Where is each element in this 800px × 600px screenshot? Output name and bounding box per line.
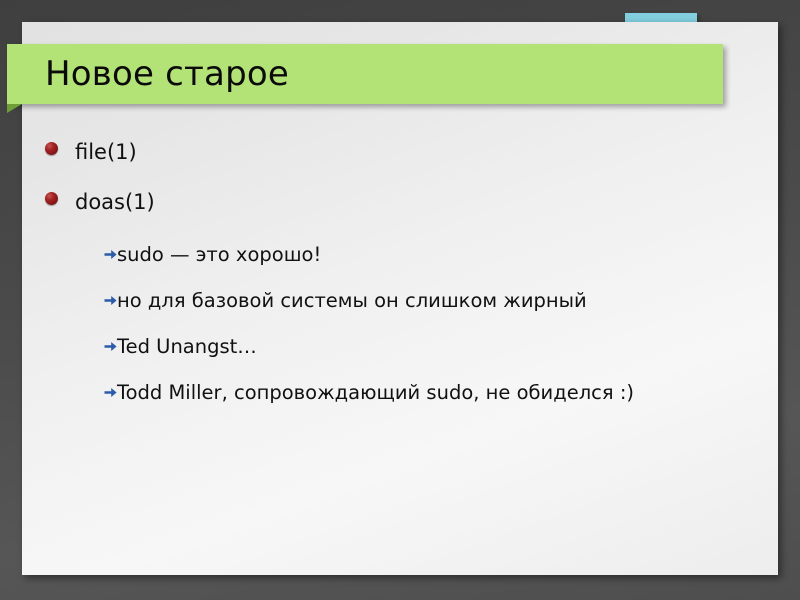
blue-arrow-bullet-icon (103, 293, 118, 308)
list-item: sudo — это хорошо! (22, 232, 778, 278)
blue-arrow-bullet-icon (103, 385, 118, 400)
list-item: doas(1) (22, 180, 778, 230)
list-item-label: Ted Unangst… (117, 335, 257, 358)
slide-title: Новое старое (45, 47, 685, 101)
blue-arrow-bullet-icon (103, 339, 118, 354)
blue-arrow-bullet-icon (103, 247, 118, 262)
red-sphere-bullet-icon (45, 192, 58, 205)
list-item-label: doas(1) (75, 180, 155, 215)
list-item: Todd Miller, сопровождающий sudo, не оби… (22, 370, 778, 416)
list-item: но для базовой системы он слишком жирный (22, 278, 778, 324)
title-banner-fold (7, 104, 22, 113)
list-item: file(1) (22, 130, 778, 180)
list-item-label: sudo — это хорошо! (117, 243, 321, 266)
list-item: Ted Unangst… (22, 324, 778, 370)
list-item-label: но для базовой системы он слишком жирный (117, 289, 587, 312)
sub-list: sudo — это хорошо! но для базовой систем… (22, 232, 778, 416)
list-item-label: file(1) (75, 130, 137, 165)
list-item-label: Todd Miller, сопровождающий sudo, не оби… (117, 381, 634, 404)
slide-content: file(1) doas(1) sudo — это хорошо! (22, 130, 778, 416)
presentation-stage: Новое старое file(1) doas(1) sudo — это … (0, 0, 800, 600)
red-sphere-bullet-icon (45, 142, 58, 155)
